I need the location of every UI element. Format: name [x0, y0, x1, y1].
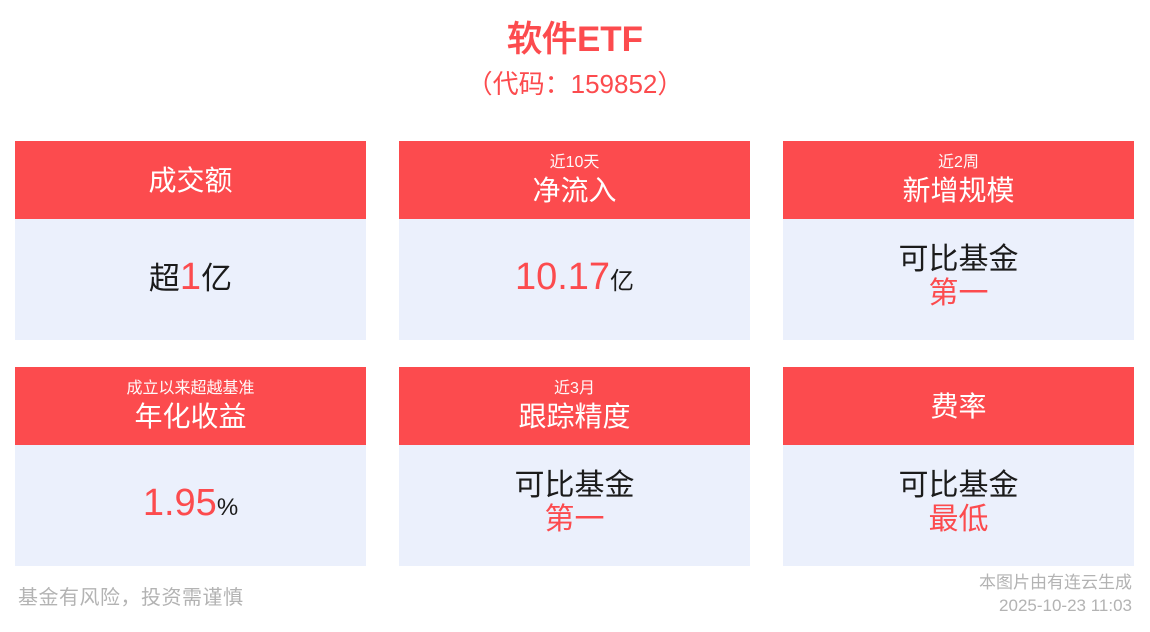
risk-disclaimer: 基金有风险，投资需谨慎 — [18, 581, 244, 610]
title-block: 软件ETF （代码：159852） — [0, 0, 1150, 102]
value-qualifier: 可比基金 — [899, 469, 1019, 503]
value-unit: 亿 — [201, 263, 232, 294]
card-value: 可比基金 第一 — [899, 243, 1019, 310]
card-value: 超 1 亿 — [149, 258, 232, 296]
value-rank: 第一 — [545, 503, 605, 537]
card-header: 近10天 净流入 — [399, 141, 750, 219]
card-eyebrow: 成立以来超越基准 — [126, 379, 254, 399]
card-value: 1.95 % — [143, 484, 238, 522]
card-header: 费率 — [783, 367, 1134, 445]
card-heading: 净流入 — [532, 173, 616, 209]
value-number: 10.17 — [515, 258, 610, 296]
card-value: 10.17 亿 — [515, 258, 634, 296]
metric-card-annualized-return[interactable]: 成立以来超越基准 年化收益 1.95 % — [15, 367, 366, 566]
card-header: 成交额 — [15, 141, 366, 219]
card-body: 10.17 亿 — [399, 219, 750, 340]
value-number: 1 — [180, 258, 201, 296]
card-value: 可比基金 最低 — [899, 469, 1019, 536]
card-value: 可比基金 第一 — [515, 469, 635, 536]
card-heading: 成交额 — [148, 163, 232, 199]
metric-card-grid: 成交额 超 1 亿 近10天 净流入 10.17 亿 近2周 新增规模 — [15, 141, 1135, 566]
footer: 基金有风险，投资需谨慎 本图片由有连云生成 2025-10-23 11:03 — [0, 566, 1150, 632]
value-unit: 亿 — [610, 270, 634, 294]
card-heading: 跟踪精度 — [518, 399, 630, 435]
value-rank: 最低 — [929, 503, 989, 537]
metric-card-fee-rate[interactable]: 费率 可比基金 最低 — [783, 367, 1134, 566]
card-header: 近3月 跟踪精度 — [399, 367, 750, 445]
card-eyebrow: 近3月 — [554, 379, 595, 399]
metric-card-new-scale[interactable]: 近2周 新增规模 可比基金 第一 — [783, 141, 1134, 340]
card-body: 可比基金 第一 — [399, 445, 750, 566]
card-body: 可比基金 第一 — [783, 219, 1134, 340]
card-body: 超 1 亿 — [15, 219, 366, 340]
value-rank: 第一 — [929, 277, 989, 311]
generation-credit: 本图片由有连云生成 2025-10-23 11:03 — [979, 572, 1132, 618]
card-eyebrow: 近2周 — [938, 153, 979, 173]
source-label: 本图片由有连云生成 — [979, 572, 1132, 595]
card-eyebrow: 近10天 — [550, 153, 600, 173]
card-heading: 费率 — [930, 389, 986, 425]
card-body: 可比基金 最低 — [783, 445, 1134, 566]
page-title: 软件ETF — [0, 18, 1150, 62]
value-number: 1.95 — [143, 484, 217, 522]
card-body: 1.95 % — [15, 445, 366, 566]
metric-card-tracking-accuracy[interactable]: 近3月 跟踪精度 可比基金 第一 — [399, 367, 750, 566]
timestamp-label: 2025-10-23 11:03 — [979, 595, 1132, 618]
fund-code-label: （代码：159852） — [0, 67, 1150, 102]
metric-card-turnover[interactable]: 成交额 超 1 亿 — [15, 141, 366, 340]
value-qualifier: 可比基金 — [899, 243, 1019, 277]
metric-card-net-inflow[interactable]: 近10天 净流入 10.17 亿 — [399, 141, 750, 340]
card-heading: 年化收益 — [134, 399, 246, 435]
card-heading: 新增规模 — [902, 173, 1014, 209]
value-prefix: 超 — [149, 263, 180, 294]
value-unit: % — [217, 496, 238, 520]
value-qualifier: 可比基金 — [515, 469, 635, 503]
card-header: 成立以来超越基准 年化收益 — [15, 367, 366, 445]
card-header: 近2周 新增规模 — [783, 141, 1134, 219]
